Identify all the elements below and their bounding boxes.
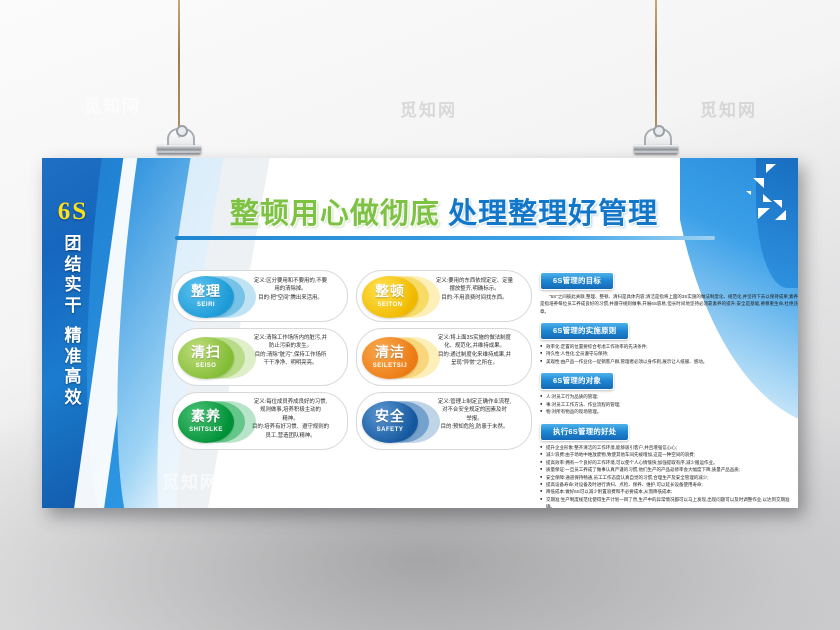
bullet-item: 交期准:生产制度规范化使得生产计划一目了然,生产中的异常情况都可以马上发现,出现…	[540, 496, 798, 508]
bullet-item: 提升企业形象:整齐清洁的工作环境,能够吸引客户,并且增强信心心;	[540, 444, 798, 451]
item-name-en: SEILETSIJ	[373, 363, 408, 369]
desc-line: 定义:管理上制定正确作业流程,	[425, 398, 524, 406]
item-name-en: SEIRI	[197, 302, 215, 308]
clip-plate-icon	[634, 145, 678, 154]
bullet-item: 人:对员工行为品质的管理;	[540, 393, 798, 400]
title-part-green: 整顿用心做彻底	[230, 198, 440, 230]
desc-line: 定义:将上面3S实施的做法制度	[425, 334, 524, 342]
sidebar-logo-6s: 6S	[42, 198, 104, 226]
section-body-goals: "6S"之间彼此关联,整理、整顿、清扫是具体内容;清洁是指将上面的3S实施的做法…	[540, 293, 798, 315]
item-name-en: SEISO	[196, 363, 217, 369]
slogan-char: 准	[42, 347, 104, 368]
item-name-cn: 清扫	[191, 347, 221, 361]
items-row: 清扫 SEISO 定义:清除工作场所内的脏污,并 防止污染的发生。 目的:清除"…	[172, 328, 532, 386]
title-part-blue: 处理整理好管理	[448, 198, 658, 230]
watermark: 觅知网	[700, 96, 757, 121]
item-name-en: SAFETY	[377, 427, 404, 433]
watermark: 觅知网	[84, 92, 141, 117]
bullet-item: 美观性:由产品—作业化—促销客户群,管理者必须以身作则,展示让人纸服、感动。	[540, 358, 798, 365]
section-bullets-objects: 人:对员工行为品质的管理; 事:对员工工作方法、作业流程的管理; 物:对所有物品…	[540, 393, 798, 415]
bullet-item: 效率化:定置的位置要综合考虑工作效率的先决条件;	[540, 343, 798, 350]
desc-line: 对不合安全规定的因素及时	[425, 406, 524, 414]
desc-line: 定义:要用的东西依规定定、定量	[425, 277, 524, 285]
slogan-char: 结	[42, 255, 104, 276]
title-divider	[175, 236, 715, 240]
items-row: 素养 SHITSLKE 定义:每位成员养成良好的习惯, 规则做事,培养积极主动的…	[172, 392, 532, 450]
hanging-rope-left	[178, 0, 180, 138]
item-safety[interactable]: 安全 SAFETY 定义:管理上制定正确作业流程, 对不合安全规定的因素及时 举…	[356, 392, 532, 450]
section-bullets-benefits: 提升企业形象:整齐清洁的工作环境,能够吸引客户,并且增强信心心; 减少浪费:由于…	[540, 444, 798, 508]
poster-board: 6S 团 结 实 干 精 准 高 效 整顿用心做彻底 处理整理好管理 觅知网 觅…	[42, 158, 798, 508]
item-badge: 整理 SEIRI	[178, 276, 234, 318]
binder-clip-right	[634, 128, 678, 154]
triangle-decor-icon	[775, 210, 786, 220]
desc-line: 化、规范化,并维持成果。	[425, 342, 524, 350]
section-header-benefits[interactable]: 执行6S管理的好处	[540, 423, 629, 441]
desc-line: 规则做事,培养积极主动的	[241, 406, 340, 414]
items-row: 整理 SEIRI 定义:区分要用和不要用的,不要 用的清除掉。 目的:把"空间"…	[172, 270, 532, 322]
triangle-decor-icon	[766, 164, 776, 173]
bullet-item: 安全保障:通道保持畅通,员工工作态度认真自觉的习惯,合理生产及安全管理的减少;	[540, 474, 798, 481]
bullet-item: 提高设备寿命:对设备及时进行清扫、点检、保养、维护,可以延长设备使用寿命;	[540, 481, 798, 488]
desc-line: 定义:区分要用和不要用的,不要	[241, 277, 340, 285]
watermark: 觅知网	[400, 96, 457, 121]
item-badge: 整顿 SEITON	[362, 276, 418, 318]
item-seiton[interactable]: 整顿 SEITON 定义:要用的东西依规定定、定量 摆放整齐,明确标示。 目的:…	[356, 270, 532, 322]
desc-line: 定义:清除工作场所内的脏污,并	[241, 334, 340, 342]
watermark: 觅知网	[472, 498, 529, 508]
bullet-item: 事:对员工工作方法、作业流程的管理;	[540, 401, 798, 408]
bullet-item: 降低成本:做好6S可以减少附置浪费和不必要成本,从而降低成本;	[540, 488, 798, 495]
desc-line: 定义:每位成员养成良好的习惯,	[241, 398, 340, 406]
item-badge: 安全 SAFETY	[362, 401, 418, 443]
desc-line: 用的清除掉。	[241, 285, 340, 293]
info-panel: 6S管理的目标 "6S"之间彼此关联,整理、整顿、清扫是具体内容;清洁是指将上面…	[540, 270, 798, 508]
item-badge: 清扫 SEISO	[178, 337, 234, 379]
desc-line: 员工,营造团队精神。	[241, 432, 340, 440]
bullet-item: 物:对所有物品的现场管理。	[540, 408, 798, 415]
slogan-char: 实	[42, 275, 104, 296]
binder-clip-left	[157, 128, 201, 154]
section-header-objects[interactable]: 6S管理的对象	[540, 372, 614, 390]
bullet-item: 质量保证:一旦员工养成了做事认真严谨的习惯,他们生产的产品返修率会大幅度下降,质…	[540, 466, 798, 473]
triangle-decor-icon	[753, 178, 764, 188]
desc-line: 摆放整齐,明确标示。	[425, 285, 524, 293]
item-seiri[interactable]: 整理 SEIRI 定义:区分要用和不要用的,不要 用的清除掉。 目的:把"空间"…	[172, 270, 348, 322]
item-name-cn: 素养	[191, 411, 221, 425]
section-header-goals[interactable]: 6S管理的目标	[540, 272, 614, 290]
item-description: 定义:将上面3S实施的做法制度 化、规范化,并维持成果。 目的:通过制度化来维持…	[425, 334, 524, 368]
hanging-rope-right	[655, 0, 657, 138]
item-shitslke[interactable]: 素养 SHITSLKE 定义:每位成员养成良好的习惯, 规则做事,培养积极主动的…	[172, 392, 348, 450]
desc-line: 防止污染的发生。	[241, 342, 340, 350]
item-name-cn: 清洁	[375, 347, 405, 361]
section-bullets-principles: 效率化:定置的位置要综合考虑工作效率的先决条件; 持久性:人性化,全员遵守与保持…	[540, 343, 798, 365]
item-name-en: SHITSLKE	[189, 427, 223, 433]
slogan-char: 团	[42, 234, 104, 255]
triangle-decor-icon	[763, 194, 772, 202]
item-badge: 素养 SHITSLKE	[178, 401, 234, 443]
desc-line: 呈现"异常"之所在。	[425, 359, 524, 367]
desc-line: 目的:预知危险,防患于未然。	[425, 423, 524, 431]
triangle-decor-icon	[746, 191, 751, 195]
section-header-principles[interactable]: 6S管理的实施原则	[540, 322, 629, 340]
desc-line: 目的:培养有好习惯、遵守规则的	[241, 423, 340, 431]
poster-title: 整顿用心做彻底 处理整理好管理	[164, 190, 724, 232]
item-badge: 清洁 SEILETSIJ	[362, 337, 418, 379]
item-description: 定义:清除工作场所内的脏污,并 防止污染的发生。 目的:清除"脏污",保持工作场…	[241, 334, 340, 368]
item-name-cn: 整顿	[375, 286, 405, 300]
triangle-decor-icon	[773, 200, 782, 208]
slogan-char: 精	[42, 326, 104, 347]
item-name-cn: 安全	[375, 411, 405, 425]
slogan-char: 效	[42, 388, 104, 409]
slogan-char: 干	[42, 296, 104, 317]
bullet-item: 持久性:人性化,全员遵守与保持;	[540, 350, 798, 357]
slogan-char: 高	[42, 367, 104, 388]
desc-line: 干干净净、明明亮亮。	[241, 359, 340, 367]
bullet-item: 减少浪费:由于场地中堆放废物,致使其他车间先被增加,这是一种空间的浪费;	[540, 451, 798, 458]
clip-plate-icon	[157, 145, 201, 154]
item-description: 定义:管理上制定正确作业流程, 对不合安全规定的因素及时 举报。 目的:预知危险…	[425, 398, 524, 432]
sidebar-slogan: 团 结 实 干 精 准 高 效	[42, 234, 104, 409]
item-seiso[interactable]: 清扫 SEISO 定义:清除工作场所内的脏污,并 防止污染的发生。 目的:清除"…	[172, 328, 348, 386]
triangle-decor-icon	[758, 208, 770, 219]
item-name-cn: 整理	[191, 286, 221, 300]
item-seiletsij[interactable]: 清洁 SEILETSIJ 定义:将上面3S实施的做法制度 化、规范化,并维持成果…	[356, 328, 532, 386]
six-s-items-grid: 整理 SEIRI 定义:区分要用和不要用的,不要 用的清除掉。 目的:把"空间"…	[172, 270, 532, 456]
bullet-item: 提高效率:拥有一个良好的工作环境,可以使个人心情愉快;加强提取有序,减少搬运作业…	[540, 459, 798, 466]
item-name-en: SEITON	[377, 302, 402, 308]
